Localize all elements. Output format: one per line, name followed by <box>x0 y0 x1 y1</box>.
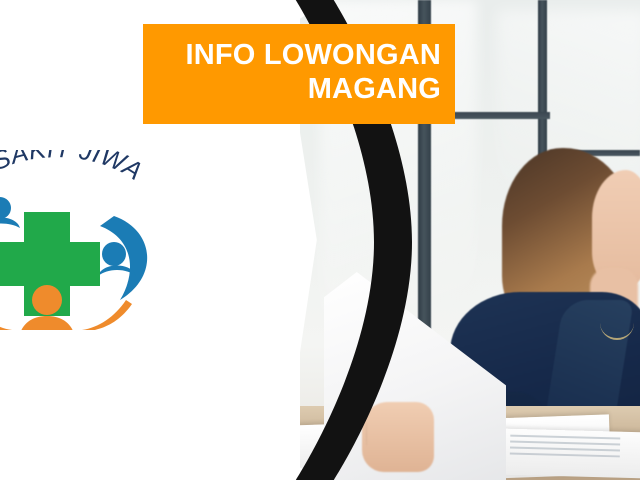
rumah-sakit-jiwa-logo: UMAH SAKIT JIWA <box>0 150 168 330</box>
woman-fingers <box>366 406 426 462</box>
banner-line-2: MAGANG <box>308 72 441 106</box>
banner-line-1: INFO LOWONGAN <box>185 38 441 72</box>
printed-text-lines <box>510 435 621 462</box>
logo-graphic: UMAH SAKIT JIWA <box>0 150 168 330</box>
info-lowongan-magang-banner: INFO LOWONGAN MAGANG <box>143 24 455 124</box>
poster-canvas: INFO LOWONGAN MAGANG UMAH SAKIT JIWA <box>0 0 640 480</box>
